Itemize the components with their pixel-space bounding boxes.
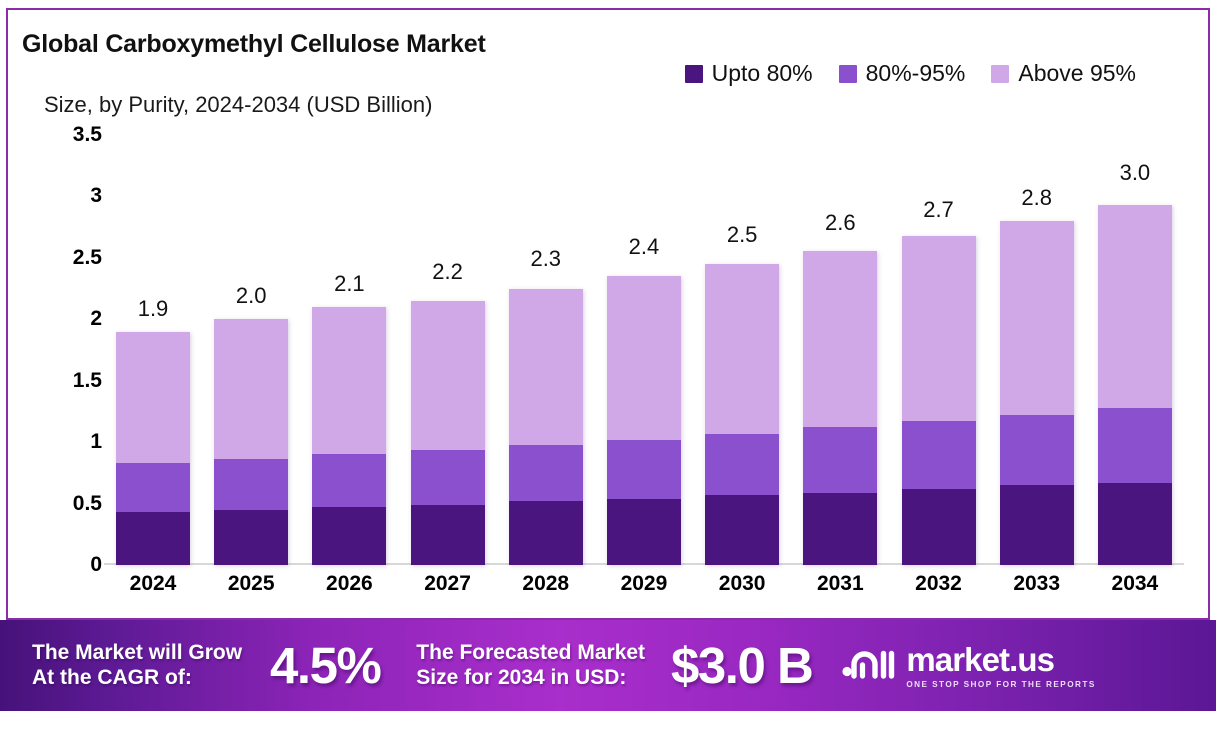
brand-tagline: ONE STOP SHOP FOR THE REPORTS <box>906 680 1095 689</box>
chart-card: Global Carboxymethyl Cellulose Market Si… <box>6 8 1210 620</box>
forecast-caption: The Forecasted Market Size for 2034 in U… <box>416 641 645 691</box>
bar-stack[interactable] <box>1000 221 1074 565</box>
x-axis-tick-label: 2024 <box>104 572 202 596</box>
bar-segment[interactable] <box>1098 205 1172 408</box>
bar-group[interactable]: 2.6 <box>791 135 889 565</box>
x-axis-tick-label: 2034 <box>1086 572 1184 596</box>
bar-stack[interactable] <box>411 301 485 565</box>
bar-stack[interactable] <box>214 319 288 565</box>
bar-group[interactable]: 2.3 <box>497 135 595 565</box>
forecast-value: $3.0 B <box>671 636 812 695</box>
y-axis-tick-label: 1.5 <box>32 369 102 393</box>
bar-segment[interactable] <box>902 489 976 565</box>
bar-segment[interactable] <box>1000 221 1074 415</box>
bar-segment[interactable] <box>705 434 779 495</box>
bar-value-label: 3.0 <box>1075 160 1195 186</box>
bar-group[interactable]: 1.9 <box>104 135 202 565</box>
x-axis-tick-label: 2027 <box>399 572 497 596</box>
plot-area: 00.511.522.533.5 1.92.02.12.22.32.42.52.… <box>8 10 1212 618</box>
x-axis-tick-label: 2031 <box>791 572 889 596</box>
bar-segment[interactable] <box>902 236 976 422</box>
bar-segment[interactable] <box>1098 408 1172 483</box>
bar-stack[interactable] <box>1098 205 1172 565</box>
bar-segment[interactable] <box>509 445 583 502</box>
bar-segment[interactable] <box>116 463 190 512</box>
cagr-caption-line2: At the CAGR of: <box>32 666 242 691</box>
bar-group[interactable]: 2.5 <box>693 135 791 565</box>
y-axis-tick-label: 0.5 <box>32 492 102 516</box>
bar-segment[interactable] <box>607 276 681 439</box>
bar-stack[interactable] <box>705 264 779 565</box>
y-axis-tick-label: 0 <box>32 553 102 577</box>
y-axis-tick-label: 2.5 <box>32 246 102 270</box>
bar-segment[interactable] <box>1000 485 1074 565</box>
x-axis-tick-label: 2025 <box>202 572 300 596</box>
market-us-logo-icon <box>840 643 896 688</box>
y-axis: 00.511.522.533.5 <box>32 135 102 575</box>
bar-segment[interactable] <box>214 319 288 459</box>
bar-segment[interactable] <box>902 421 976 489</box>
bar-group[interactable]: 3.0 <box>1086 135 1184 565</box>
bar-segment[interactable] <box>411 505 485 565</box>
bar-segment[interactable] <box>607 440 681 499</box>
x-axis-tick-label: 2030 <box>693 572 791 596</box>
bar-group[interactable]: 2.1 <box>300 135 398 565</box>
brand-logo[interactable]: market.us ONE STOP SHOP FOR THE REPORTS <box>840 643 1095 689</box>
bar-group[interactable]: 2.8 <box>988 135 1086 565</box>
x-axis: 2024202520262027202820292030203120322033… <box>104 572 1184 596</box>
bar-segment[interactable] <box>312 507 386 565</box>
y-axis-tick-label: 2 <box>32 307 102 331</box>
bar-group[interactable]: 2.2 <box>399 135 497 565</box>
bar-stack[interactable] <box>902 236 976 565</box>
bar-segment[interactable] <box>705 264 779 434</box>
forecast-caption-line1: The Forecasted Market <box>416 641 645 666</box>
y-axis-tick-label: 1 <box>32 430 102 454</box>
bar-segment[interactable] <box>312 307 386 454</box>
footer-banner: The Market will Grow At the CAGR of: 4.5… <box>0 620 1216 711</box>
bar-group[interactable]: 2.7 <box>890 135 988 565</box>
bar-stack[interactable] <box>312 307 386 565</box>
bar-segment[interactable] <box>803 251 877 428</box>
bar-segment[interactable] <box>214 459 288 509</box>
cagr-value: 4.5% <box>270 636 380 695</box>
brand-text: market.us ONE STOP SHOP FOR THE REPORTS <box>906 643 1095 689</box>
cagr-caption: The Market will Grow At the CAGR of: <box>32 641 242 691</box>
bar-segment[interactable] <box>411 301 485 450</box>
bar-segment[interactable] <box>1000 415 1074 485</box>
bar-segment[interactable] <box>312 454 386 507</box>
x-axis-tick-label: 2029 <box>595 572 693 596</box>
y-axis-tick-label: 3.5 <box>32 123 102 147</box>
bar-segment[interactable] <box>411 450 485 505</box>
x-axis-tick-label: 2032 <box>890 572 988 596</box>
bar-stack[interactable] <box>803 251 877 566</box>
bar-stack[interactable] <box>509 289 583 565</box>
bar-segment[interactable] <box>509 289 583 445</box>
forecast-caption-line2: Size for 2034 in USD: <box>416 666 645 691</box>
brand-name: market.us <box>906 643 1095 676</box>
bar-segment[interactable] <box>116 332 190 463</box>
bar-series-container: 1.92.02.12.22.32.42.52.62.72.83.0 <box>104 135 1184 565</box>
bar-stack[interactable] <box>607 276 681 565</box>
bar-segment[interactable] <box>705 495 779 565</box>
bar-segment[interactable] <box>607 499 681 565</box>
bar-value-label: 2.8 <box>977 185 1097 211</box>
chart-figure: Global Carboxymethyl Cellulose Market Si… <box>0 0 1216 733</box>
x-axis-tick-label: 2033 <box>988 572 1086 596</box>
x-axis-tick-label: 2026 <box>300 572 398 596</box>
bar-segment[interactable] <box>803 427 877 492</box>
cagr-caption-line1: The Market will Grow <box>32 641 242 666</box>
y-axis-tick-label: 3 <box>32 184 102 208</box>
bar-segment[interactable] <box>214 510 288 565</box>
bar-segment[interactable] <box>116 512 190 565</box>
bar-group[interactable]: 2.4 <box>595 135 693 565</box>
bar-group[interactable]: 2.0 <box>202 135 300 565</box>
bar-segment[interactable] <box>509 501 583 565</box>
bar-segment[interactable] <box>803 493 877 565</box>
bar-segment[interactable] <box>1098 483 1172 565</box>
bar-stack[interactable] <box>116 332 190 565</box>
x-axis-tick-label: 2028 <box>497 572 595 596</box>
